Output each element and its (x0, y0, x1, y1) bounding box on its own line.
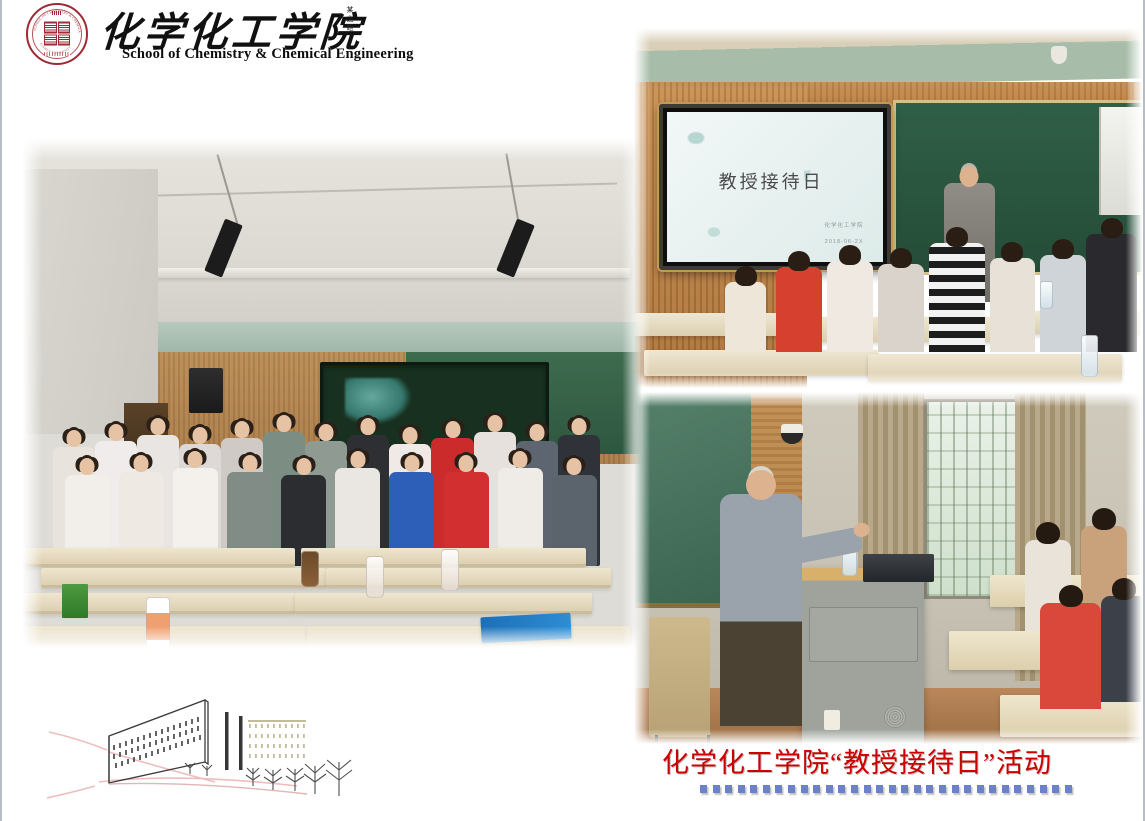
student-group (41, 413, 642, 566)
student-audience (634, 201, 1142, 352)
photo-caption: 化学化工学院“教授接待日”活动 (662, 741, 1052, 780)
ceiling-camera-icon (1051, 46, 1067, 64)
poster-page: SCHOOL OF CHEMISTRY & CHEMICAL ENGINEERI… (0, 0, 1145, 821)
title-signature-stamp: 某 之 题 (346, 6, 353, 31)
lectern (802, 568, 924, 744)
seal-arc-text: SCHOOL OF CHEMISTRY & CHEMICAL ENGINEERI… (28, 5, 86, 63)
professor-figure (720, 494, 801, 726)
svg-text:XIAMEN UNIVERSITY: XIAMEN UNIVERSITY (39, 42, 73, 55)
university-seal-icon: SCHOOL OF CHEMISTRY & CHEMICAL ENGINEERI… (26, 3, 88, 65)
group-photo-classroom (22, 138, 642, 648)
campus-building-sketch (47, 690, 387, 815)
ceiling-camera-icon (781, 424, 803, 444)
decorative-dotted-divider (700, 785, 1072, 795)
page-header: SCHOOL OF CHEMISTRY & CHEMICAL ENGINEERI… (26, 2, 366, 68)
podium-teaching-photo (634, 392, 1142, 744)
classroom-chair (649, 617, 710, 737)
page-title-en: School of Chemistry & Chemical Engineeri… (122, 46, 414, 63)
lecture-projection-photo: 教授接待日 化学化工学院 2018-06-2X (634, 28, 1142, 388)
slide-title: 教授接待日 (719, 168, 824, 194)
svg-text:SCHOOL OF CHEMISTRY & CHEMICAL: SCHOOL OF CHEMISTRY & CHEMICAL ENGINEERI… (28, 5, 82, 34)
